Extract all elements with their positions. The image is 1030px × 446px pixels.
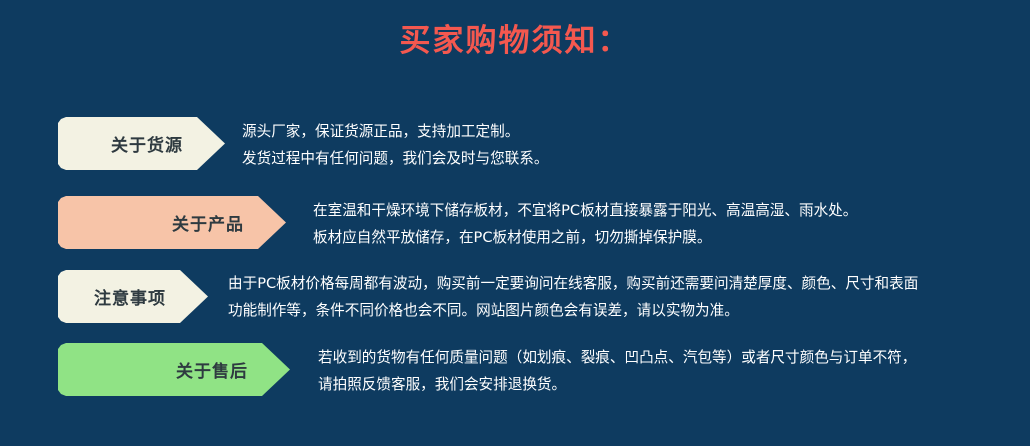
shopping-notice-banner: 买家购物须知： 关于货源 源头厂家，保证货源正品，支持加工定制。 发货过程中有任… bbox=[0, 0, 1030, 446]
notice-text-line: 若收到的货物有任何质量问题（如划痕、裂痕、凹凸点、汽包等）或者尺寸颜色与订单不符… bbox=[318, 344, 1030, 371]
badge-slot: 注意事项 bbox=[58, 270, 208, 323]
notice-text-line: 由于PC板材价格每周都有波动，购买前一定要询问在线客服，购买前还需要问清楚厚度、… bbox=[228, 270, 1030, 297]
notice-text-line: 功能制作等，条件不同价格也会不同。网站图片颜色会有误差，请以实物为准。 bbox=[228, 297, 1030, 324]
notice-text-attention: 由于PC板材价格每周都有波动，购买前一定要询问在线客服，购买前还需要问清楚厚度、… bbox=[228, 270, 1030, 324]
notice-text-source: 源头厂家，保证货源正品，支持加工定制。 发货过程中有任何问题，我们会及时与您联系… bbox=[242, 117, 1030, 172]
notice-row: 关于货源 源头厂家，保证货源正品，支持加工定制。 发货过程中有任何问题，我们会及… bbox=[0, 117, 1030, 172]
notice-row: 注意事项 由于PC板材价格每周都有波动，购买前一定要询问在线客服，购买前还需要问… bbox=[0, 270, 1030, 324]
notice-text-line: 源头厂家，保证货源正品，支持加工定制。 bbox=[242, 118, 1030, 145]
notice-row: 关于产品 在室温和干燥环境下储存板材，不宜将PC板材直接暴露于阳光、高温高湿、雨… bbox=[0, 196, 1030, 251]
badge-slot: 关于货源 bbox=[58, 117, 225, 170]
page-title: 买家购物须知： bbox=[0, 20, 1030, 62]
badge-slot: 关于售后 bbox=[58, 343, 290, 396]
section-badge-attention: 注意事项 bbox=[58, 270, 208, 323]
notice-text-product: 在室温和干燥环境下储存板材，不宜将PC板材直接暴露于阳光、高温高湿、雨水处。 板… bbox=[313, 196, 1030, 251]
section-badge-aftersales: 关于售后 bbox=[58, 343, 290, 396]
notice-text-aftersales: 若收到的货物有任何质量问题（如划痕、裂痕、凹凸点、汽包等）或者尺寸颜色与订单不符… bbox=[318, 343, 1030, 398]
section-badge-product: 关于产品 bbox=[58, 196, 286, 249]
section-badge-source: 关于货源 bbox=[58, 117, 225, 170]
badge-slot: 关于产品 bbox=[58, 196, 286, 249]
notice-text-line: 板材应自然平放储存，在PC板材使用之前，切勿撕掉保护膜。 bbox=[313, 224, 1030, 251]
notice-row: 关于售后 若收到的货物有任何质量问题（如划痕、裂痕、凹凸点、汽包等）或者尺寸颜色… bbox=[0, 343, 1030, 398]
notice-text-line: 请拍照反馈客服，我们会安排退换货。 bbox=[318, 371, 1030, 398]
notice-text-line: 发货过程中有任何问题，我们会及时与您联系。 bbox=[242, 145, 1030, 172]
notice-text-line: 在室温和干燥环境下储存板材，不宜将PC板材直接暴露于阳光、高温高湿、雨水处。 bbox=[313, 197, 1030, 224]
